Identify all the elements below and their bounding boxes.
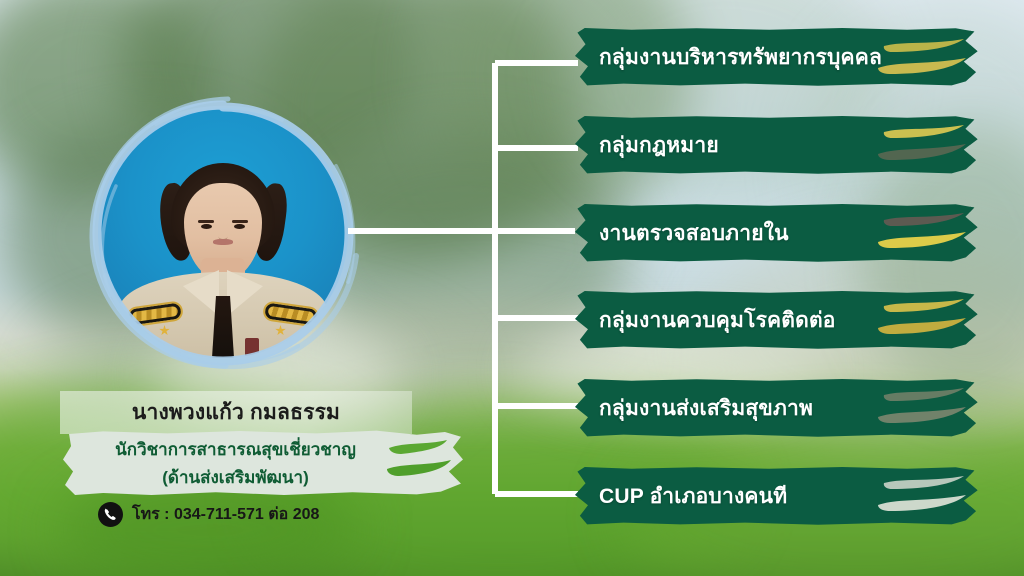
org-item-label: กลุ่มงานส่งเสริมสุขภาพ bbox=[599, 392, 813, 425]
org-item-0[interactable]: กลุ่มงานบริหารทรัพยากรบุคคล bbox=[575, 28, 980, 86]
brush-accent-icon bbox=[878, 122, 974, 168]
slide-canvas: นางพวงแก้ว กมลธรรม นักวิชาการสาธารณสุขเช… bbox=[0, 0, 1024, 576]
org-item-label: กลุ่มงานควบคุมโรคติดต่อ bbox=[599, 304, 836, 337]
org-item-label: งานตรวจสอบภายใน bbox=[599, 217, 789, 250]
phone-number: โทร : 034-711-571 ต่อ 208 bbox=[132, 502, 319, 527]
role-text-block: นักวิชาการสาธารณสุขเชี่ยวชาญ (ด้านส่งเสร… bbox=[63, 430, 408, 497]
role-line-1: นักวิชาการสาธารณสุขเชี่ยวชาญ bbox=[115, 436, 356, 463]
brush-accent-icon bbox=[878, 473, 974, 519]
phone-row[interactable]: โทร : 034-711-571 ต่อ 208 bbox=[98, 500, 319, 528]
brush-accent-icon bbox=[878, 297, 974, 343]
brush-circle-frame bbox=[86, 96, 360, 370]
phone-icon bbox=[98, 502, 123, 527]
person-name-band: นางพวงแก้ว กมลธรรม bbox=[60, 391, 412, 434]
avatar bbox=[98, 108, 348, 358]
brush-accent-icon bbox=[878, 385, 974, 431]
org-item-1[interactable]: กลุ่มกฎหมาย bbox=[575, 116, 980, 174]
org-item-label: CUP อำเภอบางคนที bbox=[599, 480, 787, 513]
role-line-2: (ด้านส่งเสริมพัฒนา) bbox=[162, 464, 308, 491]
org-item-label: กลุ่มงานบริหารทรัพยากรบุคคล bbox=[599, 41, 882, 74]
page-title: นางพวงแก้ว กมลธรรม bbox=[132, 396, 340, 429]
org-item-4[interactable]: กลุ่มงานส่งเสริมสุขภาพ bbox=[575, 379, 980, 437]
org-item-label: กลุ่มกฎหมาย bbox=[599, 129, 719, 162]
org-item-3[interactable]: กลุ่มงานควบคุมโรคติดต่อ bbox=[575, 291, 980, 349]
brush-accent-icon bbox=[878, 34, 974, 80]
brush-accent-icon bbox=[878, 210, 974, 256]
org-item-2[interactable]: งานตรวจสอบภายใน bbox=[575, 204, 980, 262]
org-item-5[interactable]: CUP อำเภอบางคนที bbox=[575, 467, 980, 525]
